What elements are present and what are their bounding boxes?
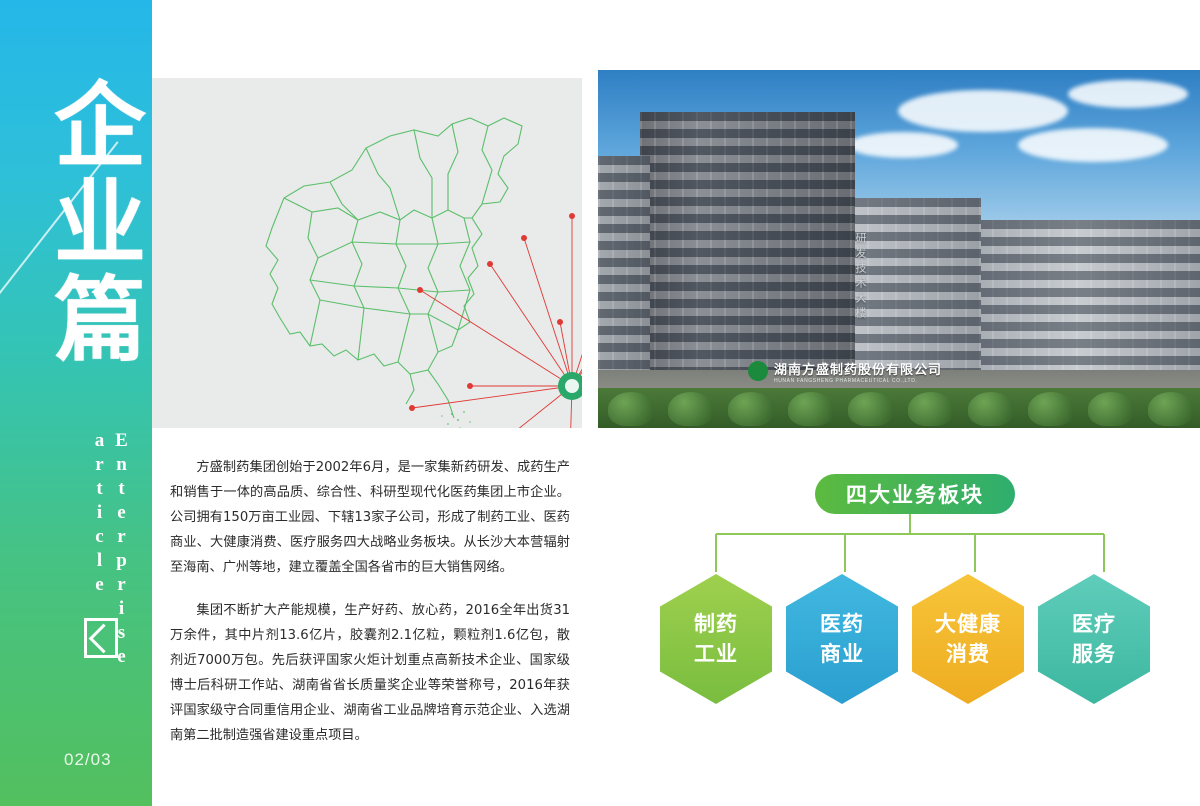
body-text: 方盛制药集团创始于2002年6月，是一家集新药研发、成药生产和销售于一体的高品质… xyxy=(170,455,570,766)
segment-4-line-1: 医疗 xyxy=(1072,609,1116,639)
segment-block-3[interactable]: 大健康 消费 xyxy=(912,574,1024,704)
page-number: 02/03 xyxy=(64,750,112,770)
cloud xyxy=(848,132,958,158)
headquarters-photo: 研发技术大楼 湖南方盛制药股份有限公司 HUNAN FANGSHENG PHAR… xyxy=(598,70,1200,428)
map-panel xyxy=(152,78,582,428)
arrow-down-left-icon xyxy=(84,618,118,658)
left-gradient-band: 企 业 篇 Enterprise article 02/03 xyxy=(0,0,152,806)
segment-block-4[interactable]: 医疗 服务 xyxy=(1038,574,1150,704)
segment-3-line-2: 消费 xyxy=(946,639,990,669)
cloud xyxy=(898,90,1068,132)
map-hub-marker xyxy=(558,372,582,400)
segment-block-2[interactable]: 医药 商业 xyxy=(786,574,898,704)
segment-hex-group: 制药 工业 医药 商业 大健康 消费 医疗 服务 xyxy=(660,574,1160,719)
segment-1-line-2: 工业 xyxy=(694,639,738,669)
company-logo-icon xyxy=(748,361,768,381)
cloud xyxy=(1018,128,1168,162)
company-name-cn: 湖南方盛制药股份有限公司 xyxy=(774,359,942,378)
cloud xyxy=(1068,80,1188,108)
segment-4-line-2: 服务 xyxy=(1072,639,1116,669)
paragraph-1: 方盛制药集团创始于2002年6月，是一家集新药研发、成药生产和销售于一体的高品质… xyxy=(170,455,570,580)
segment-2-line-1: 医药 xyxy=(820,609,864,639)
business-segments-diagram: 四大业务板块 制药 工业 医药 商业 大健康 消费 xyxy=(640,470,1180,720)
brochure-page: 企 业 篇 Enterprise article 02/03 xyxy=(0,0,1200,806)
china-map-svg xyxy=(152,78,582,428)
hedge xyxy=(598,388,1200,428)
company-sign: 湖南方盛制药股份有限公司 HUNAN FANGSHENG PHARMACEUTI… xyxy=(748,358,1028,384)
segment-1-line-1: 制药 xyxy=(694,609,738,639)
paragraph-2: 集团不断扩大产能规模，生产好药、放心药，2016全年出货31万余件，其中片剂13… xyxy=(170,598,570,748)
tower-label: 研发技术大楼 xyxy=(852,232,868,322)
segment-3-line-1: 大健康 xyxy=(935,609,1001,639)
diagram-title: 四大业务板块 xyxy=(815,474,1015,514)
segment-block-1[interactable]: 制药 工业 xyxy=(660,574,772,704)
diagram-connectors xyxy=(640,514,1180,576)
company-name-en: HUNAN FANGSHENG PHARMACEUTICAL CO.,LTD. xyxy=(774,378,942,384)
segment-2-line-2: 商业 xyxy=(820,639,864,669)
